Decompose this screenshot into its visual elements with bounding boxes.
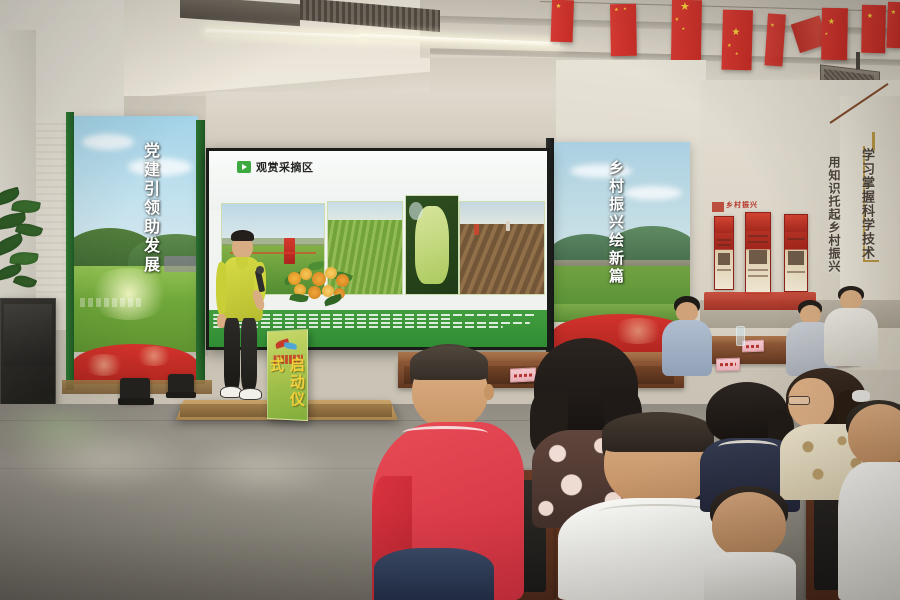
stage-light-base-1: [118, 398, 154, 405]
stage-floor-light-2: [168, 374, 194, 394]
flag-5: ★: [764, 13, 786, 66]
amp-panel: [4, 304, 52, 366]
white-shirt-collar: [598, 504, 716, 520]
exhibit-panel-2: [745, 212, 771, 294]
floor-reflection-2: [186, 440, 336, 500]
slide-title: 观赏采摘区: [256, 159, 314, 175]
exhibit-panel-1: [714, 216, 734, 290]
potted-green-plant: [0, 190, 56, 310]
scroll-banner-knowledge-revitalize: 用知识托起乡村振兴: [826, 156, 843, 273]
slide-photo-4: [459, 201, 545, 295]
floor-reflection-green: [0, 404, 120, 454]
audience-white-shirt-right: [838, 400, 900, 600]
scroll-banner-learn-science: 学习掌握科学技术: [857, 148, 876, 260]
water-bottle: [736, 326, 745, 346]
exhibit-panel-3: [784, 214, 808, 292]
conference-hall-scene: ★ ★★ ★★★ ★★★ ★ ★★ ★ ★ 党建引领助发展: [0, 0, 900, 600]
audience-partial-bottom-left: [374, 548, 494, 600]
flag-8: ★: [861, 5, 886, 53]
backdrop-left-frame: [66, 112, 74, 390]
sign-text: 启动仪式: [267, 357, 308, 420]
backdrop-left-frame-inner: [196, 120, 205, 384]
slide-title-row: 观赏采摘区: [237, 159, 314, 175]
launch-ceremony-sign[interactable]: 启动仪式: [267, 329, 308, 421]
presenter-on-stage: [214, 230, 270, 410]
stage-light-base-2: [166, 392, 196, 398]
flag-2: ★★: [610, 4, 637, 56]
banner-rail-bottom: [863, 260, 879, 262]
delegate-name-card-2: [716, 358, 740, 372]
delegate-name-card-3: [742, 340, 764, 353]
presenter-collar: [236, 257, 248, 269]
audience-head-bottom: [704, 486, 794, 600]
exhibit-header-text: 乡村振兴: [726, 200, 758, 210]
sign-logo: [275, 336, 298, 353]
flag-3: ★★★: [671, 0, 702, 64]
flag-7: ★★: [821, 8, 848, 60]
polo-collar-trim: [402, 426, 488, 440]
audience-seated-far-right: [820, 286, 880, 366]
ear: [484, 384, 494, 400]
right-backdrop-text: 乡村振兴绘新篇: [606, 160, 627, 286]
flag-9: ★: [886, 2, 900, 48]
exhibit-header-badge: [712, 202, 724, 212]
flag-4: ★★★: [721, 10, 753, 71]
left-backdrop-text: 党建引领助发展: [138, 142, 162, 275]
green-play-icon: [237, 161, 251, 173]
navy-collar-trim: [718, 440, 778, 454]
audience-blue-shirt: [660, 296, 714, 376]
wall-above-screen: [206, 92, 556, 152]
eyeglasses: [788, 396, 810, 405]
flag-1: ★: [551, 0, 574, 42]
flower-arrangement: [284, 258, 352, 306]
microphone-head: [256, 266, 264, 274]
speaker-mount-rod: [856, 52, 860, 70]
left-photo-backdrop: 党建引领助发展: [72, 116, 198, 384]
slide-photo-3: [405, 195, 459, 295]
